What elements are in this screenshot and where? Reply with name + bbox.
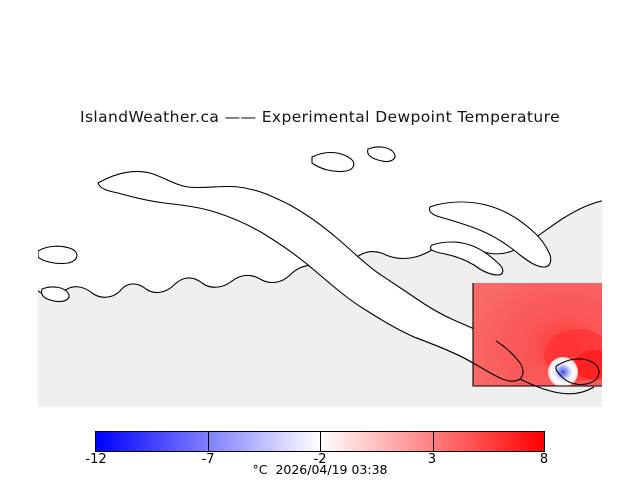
colorbar-tick-line [433,431,434,452]
west-islet-3 [38,246,77,263]
page-title: IslandWeather.ca —— Experimental Dewpoin… [0,108,640,126]
colorbar-caption: °C 2026/04/19 03:38 [0,462,640,477]
map-panel[interactable] [38,139,602,407]
dewpoint-analysis-block [473,283,602,387]
colorbar-tick-line [320,431,321,452]
colorbar-tick-line [208,431,209,452]
weather-map-screen: IslandWeather.ca —— Experimental Dewpoin… [0,0,640,480]
coastline-map [38,139,602,407]
colorbar[interactable] [95,431,545,452]
